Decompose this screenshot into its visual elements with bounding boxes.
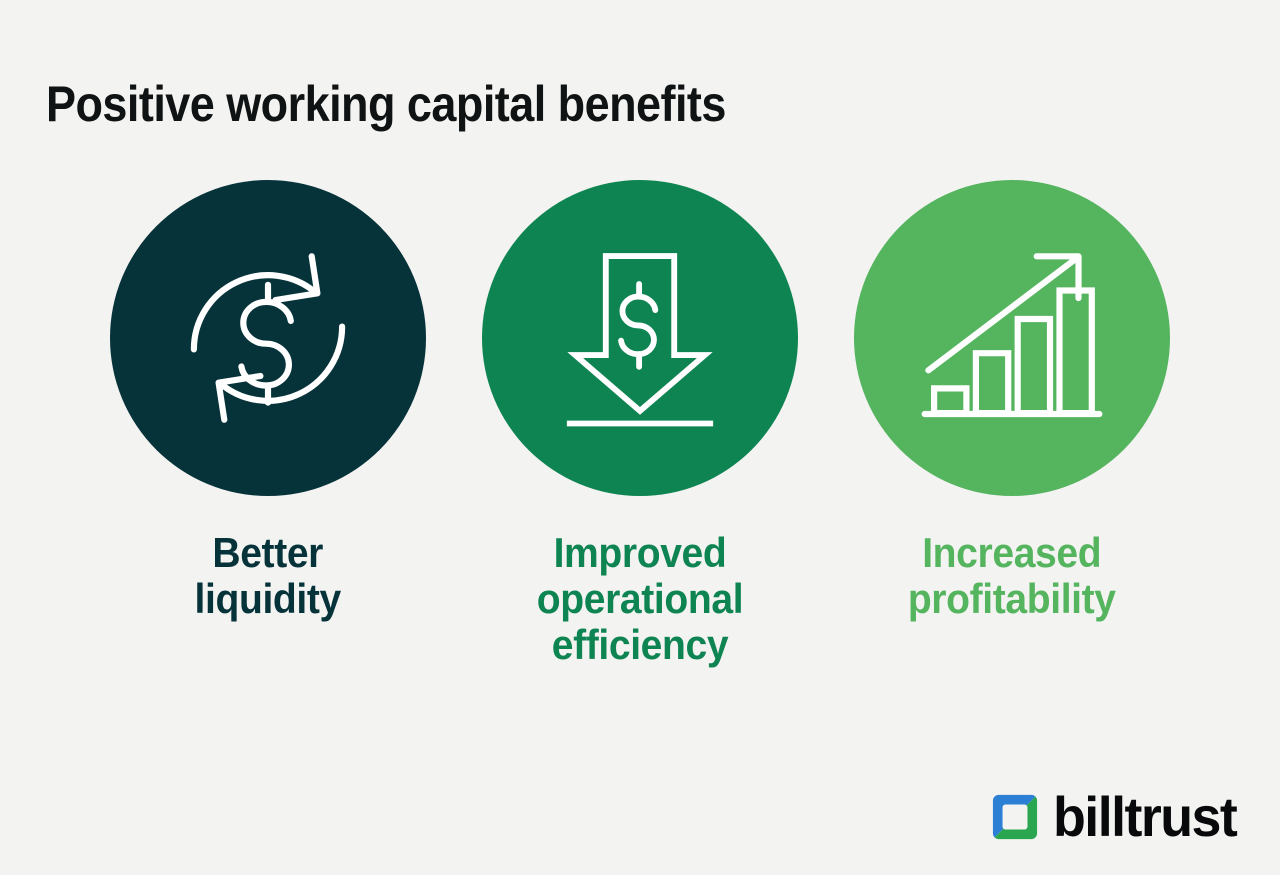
brand-logo: billtrust [991, 789, 1244, 845]
benefit-icon-circle-improved-operational-efficiency [482, 180, 798, 496]
dollar-down-arrow-icon [550, 243, 730, 433]
currency-cycle-icon [173, 243, 363, 433]
benefit-icon-circle-increased-profitability [854, 180, 1170, 496]
benefit-label-increased-profitability: Increased profitability [908, 530, 1116, 622]
growth-bar-chart-icon [917, 243, 1107, 433]
benefit-item-improved-operational-efficiency: Improved operational efficiency [482, 180, 798, 669]
billtrust-diamond-icon [991, 793, 1039, 841]
benefit-label-improved-operational-efficiency: Improved operational efficiency [537, 530, 743, 669]
infographic-canvas: Positive working capital benefits [0, 0, 1280, 875]
page-title: Positive working capital benefits [46, 76, 726, 132]
benefit-item-better-liquidity: Better liquidity [110, 180, 426, 622]
benefit-item-increased-profitability: Increased profitability [854, 180, 1170, 622]
benefits-row: Better liquidity [0, 180, 1280, 669]
benefit-label-better-liquidity: Better liquidity [195, 530, 341, 622]
brand-wordmark: billtrust [1053, 789, 1236, 845]
benefit-icon-circle-better-liquidity [110, 180, 426, 496]
